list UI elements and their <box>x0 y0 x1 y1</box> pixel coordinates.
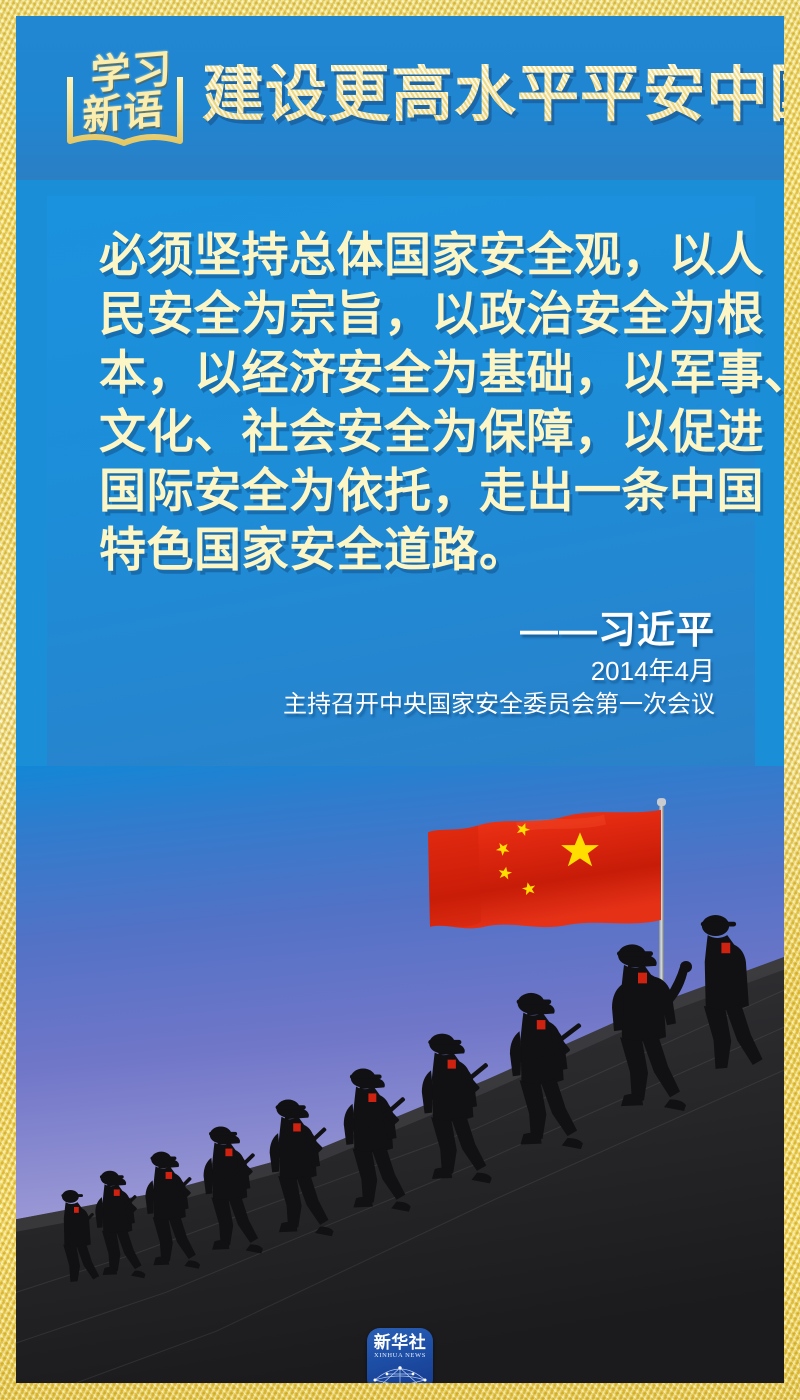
quote-line: 民安全为宗旨，以政治安全为根 <box>99 285 733 344</box>
xinhua-network-icon <box>367 1360 433 1383</box>
poster-header: 学习 新语 建设更高水平平安中国 <box>16 16 784 180</box>
quote-line: 国际安全为依托，走出一条中国 <box>99 462 733 521</box>
attribution-event: 主持召开中央国家安全委员会第一次会议 <box>283 689 715 721</box>
attribution-date: 2014年4月 <box>283 654 715 689</box>
poster-title: 建设更高水平平安中国 <box>202 64 784 126</box>
quote-line: 特色国家安全道路。 <box>99 521 733 580</box>
soldiers-flag-photo <box>16 766 784 1383</box>
xinhua-news-logo: 新华社 XINHUA NEWS <box>367 1328 433 1383</box>
quote-line: 必须坚持总体国家安全观，以人 <box>99 226 733 285</box>
emblem-line-2: 新语 <box>82 90 170 136</box>
emblem-brand-text: 学习 新语 <box>57 27 195 159</box>
photograph: 新华社 XINHUA NEWS <box>16 766 784 1383</box>
xinhua-logo-cn: 新华社 <box>367 1334 433 1351</box>
quote-attribution: ——习近平 2014年4月 主持召开中央国家安全委员会第一次会议 <box>283 610 715 721</box>
xinhua-logo-en: XINHUA NEWS <box>367 1353 433 1360</box>
attribution-author: ——习近平 <box>283 610 715 654</box>
quote-line: 本，以经济安全为基础，以军事、 <box>99 344 733 403</box>
quote-panel: 必须坚持总体国家安全观，以人 民安全为宗旨，以政治安全为根 本，以经济安全为基础… <box>47 196 755 766</box>
poster-inner: 学习 新语 建设更高水平平安中国 必须坚持总体国家安全观，以人 民安全为宗旨，以… <box>16 16 784 1383</box>
quote-text: 必须坚持总体国家安全观，以人 民安全为宗旨，以政治安全为根 本，以经济安全为基础… <box>99 226 733 580</box>
quote-line: 文化、社会安全为保障，以促进 <box>99 403 733 462</box>
poster-root: 学习 新语 建设更高水平平安中国 必须坚持总体国家安全观，以人 民安全为宗旨，以… <box>0 0 800 1400</box>
xuexi-xinyu-emblem: 学习 新语 <box>58 31 194 155</box>
